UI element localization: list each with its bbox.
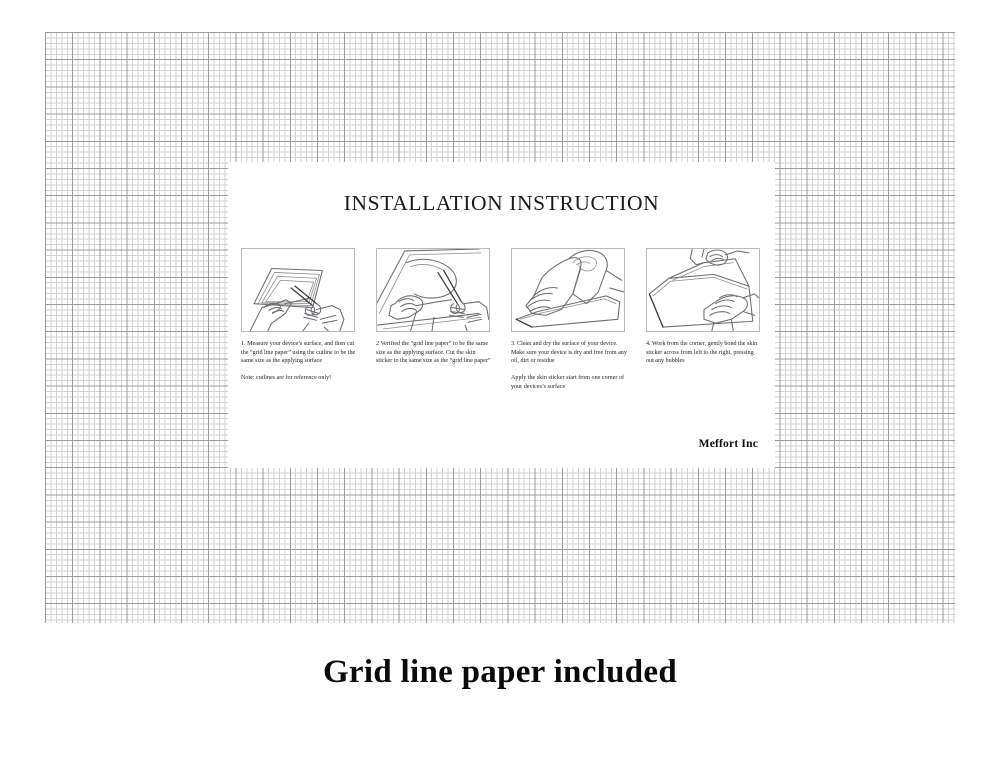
verifying-and-cutting-skin-sticker-illustration xyxy=(377,249,489,331)
steps-container: 1. Measure your device’s surface, and th… xyxy=(241,248,762,392)
step-note-1: Note: cutlines are for reference only! xyxy=(241,374,357,383)
cutting-grid-paper-with-scissors-illustration xyxy=(242,249,354,331)
step-item-3: 3. Clean and dry the surface of your dev… xyxy=(511,248,627,392)
step-text-2: 2 Verified the “grid line paper” to be t… xyxy=(376,340,492,366)
step-note-3: Apply the skin sticker start from one co… xyxy=(511,374,627,391)
brand-name: Meffort Inc xyxy=(699,438,758,450)
step-text-4: 4. Work from the corner, gently bond the… xyxy=(646,340,762,366)
cleaning-and-drying-device-surface-illustration xyxy=(512,249,624,331)
page-root: INSTALLATION INSTRUCTION xyxy=(0,0,1000,764)
step-text-1: 1. Measure your device’s surface, and th… xyxy=(241,340,357,366)
step-figure-1 xyxy=(241,248,355,332)
instruction-card: INSTALLATION INSTRUCTION xyxy=(228,162,775,468)
step-figure-3 xyxy=(511,248,625,332)
page-title: INSTALLATION INSTRUCTION xyxy=(228,191,775,216)
step-text-3: 3. Clean and dry the surface of your dev… xyxy=(511,340,627,366)
step-figure-2 xyxy=(376,248,490,332)
step-item-1: 1. Measure your device’s surface, and th… xyxy=(241,248,357,392)
step-item-4: 4. Work from the corner, gently bond the… xyxy=(646,248,762,392)
step-item-2: 2 Verified the “grid line paper” to be t… xyxy=(376,248,492,392)
step-figure-4 xyxy=(646,248,760,332)
bottom-caption: Grid line paper included xyxy=(0,654,1000,691)
bonding-skin-sticker-smoothing-bubbles-illustration xyxy=(647,249,759,331)
